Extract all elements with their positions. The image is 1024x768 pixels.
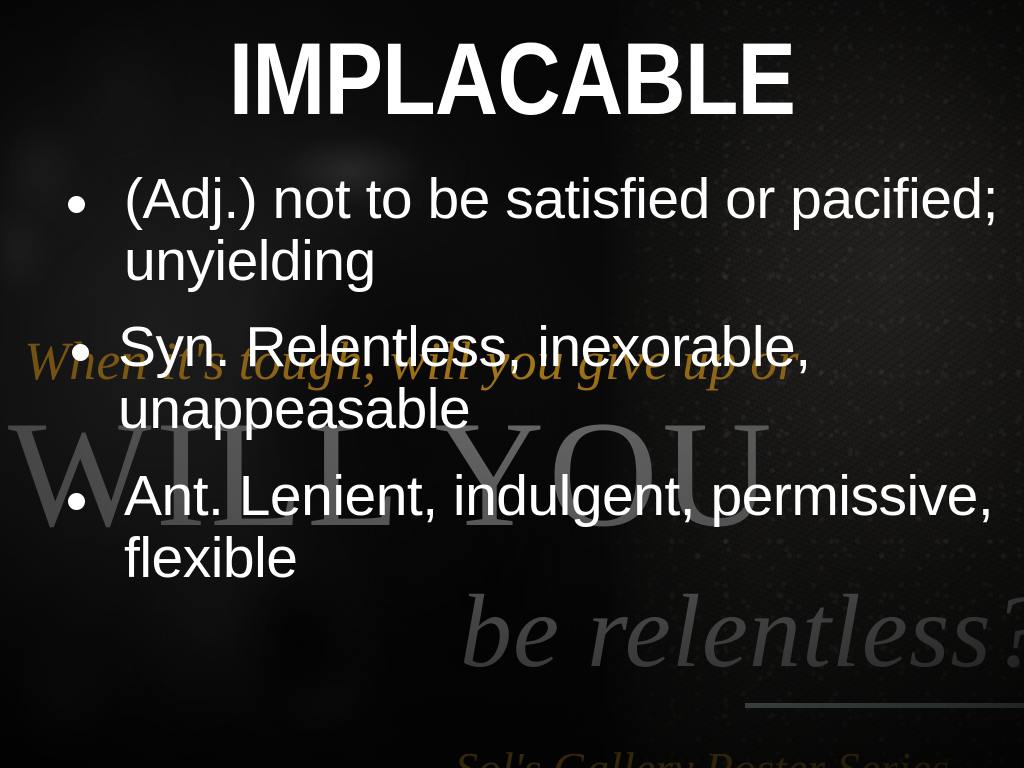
bullet-item-synonyms: Syn. Relentless, inexorable, unappeasabl… [56,316,1000,440]
bullet-dot-icon [68,196,85,213]
bullet-dot-icon [72,344,89,361]
bullet-dot-icon [68,493,85,510]
slide-title: IMPLACABLE [72,26,953,133]
bullet-item-antonyms: Ant. Lenient, indulgent, permissive, fle… [56,465,1000,589]
bullet-list: (Adj.) not to be satisfied or pacified; … [56,168,1000,613]
presentation-slide: When it's tough, will you give up or WIL… [0,0,1024,768]
bullet-item-definition: (Adj.) not to be satisfied or pacified; … [56,168,1000,292]
slide-content: IMPLACABLE (Adj.) not to be satisfied or… [0,0,1024,768]
bullet-text: Ant. Lenient, indulgent, permissive, fle… [124,464,993,590]
bullet-text: (Adj.) not to be satisfied or pacified; … [124,167,998,293]
bullet-text: Syn. Relentless, inexorable, unappeasabl… [118,315,811,441]
